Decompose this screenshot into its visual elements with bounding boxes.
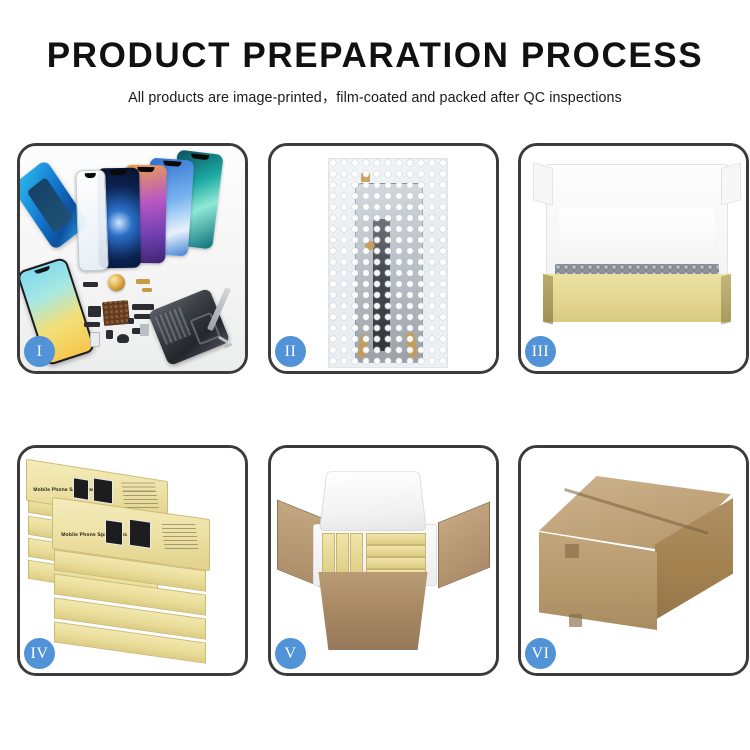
- part-bit: [84, 322, 100, 327]
- step-badge-5: V: [275, 638, 306, 669]
- carton-tab: [569, 614, 582, 627]
- inner-yellow-box: [366, 545, 426, 557]
- step-2-photo: [271, 146, 496, 371]
- carton-body: [311, 572, 435, 650]
- step-5-photo: [271, 448, 496, 673]
- process-step-panel-5: V: [268, 445, 499, 676]
- part-bit: [88, 306, 101, 317]
- wrapped-screen-part: [355, 183, 423, 363]
- box-print-screen: [73, 477, 89, 501]
- box-print-screen: [105, 519, 123, 546]
- part-bit: [142, 288, 152, 292]
- inner-yellow-box: [366, 557, 426, 569]
- box-print-screen: [129, 519, 151, 549]
- step-badge-2: II: [275, 336, 306, 367]
- step-badge-4: IV: [24, 638, 55, 669]
- box-print-screen: [93, 477, 113, 504]
- tape-mark: [357, 334, 369, 357]
- page-title: PRODUCT PREPARATION PROCESS: [0, 38, 750, 75]
- inner-yellow-box: [366, 533, 426, 545]
- page-subtitle: All products are image-printed，film-coat…: [0, 86, 750, 107]
- process-step-panel-6: VI: [518, 445, 749, 676]
- part-bit: [128, 318, 134, 324]
- part-bit: [90, 332, 100, 347]
- part-bit: [106, 330, 113, 339]
- lid-wing-left: [533, 162, 553, 206]
- flex-cable-strip: [373, 219, 390, 351]
- step-6-photo: [521, 448, 746, 673]
- process-step-panel-4: Mobile Phone Spare Parts Mobile Phone Sp…: [17, 445, 248, 676]
- part-bit: [117, 334, 129, 343]
- part-bit: [140, 324, 149, 336]
- box-print-specs: [121, 483, 159, 509]
- process-step-grid: I II III: [17, 143, 748, 677]
- page-header: PRODUCT PREPARATION PROCESS All products…: [0, 0, 750, 107]
- yellow-box-base: [543, 274, 731, 322]
- tape-mark: [361, 173, 370, 182]
- foam-lid: [319, 471, 427, 531]
- tape-mark: [365, 241, 375, 250]
- step-3-photo: [521, 146, 746, 371]
- gold-coil-part: [108, 274, 125, 291]
- step-4-photo: Mobile Phone Spare Parts Mobile Phone Sp…: [20, 448, 245, 673]
- step-badge-3: III: [525, 336, 556, 367]
- part-bit: [132, 304, 154, 310]
- process-step-panel-3: III: [518, 143, 749, 374]
- part-bit: [136, 279, 150, 284]
- part-bit: [83, 282, 98, 287]
- box-label-text: Mobile Phone Spare Parts: [33, 487, 100, 493]
- chip-grid-part: [102, 300, 130, 326]
- process-step-panel-1: I: [17, 143, 248, 374]
- lid-wing-right: [721, 162, 741, 206]
- bubble-wrap-bag: [328, 158, 448, 368]
- screen-glass-protector: [75, 170, 109, 272]
- carton-tab: [565, 544, 579, 558]
- step-badge-1: I: [24, 336, 55, 367]
- step-1-photo: [20, 146, 245, 371]
- process-step-panel-2: II: [268, 143, 499, 374]
- tape-mark: [405, 332, 417, 357]
- box-print-specs: [161, 524, 198, 550]
- step-badge-6: VI: [525, 638, 556, 669]
